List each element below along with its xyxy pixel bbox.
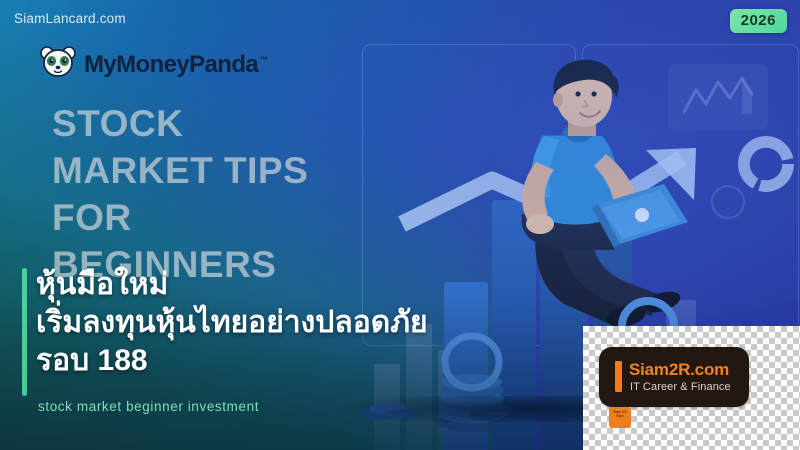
year-badge: 2026 xyxy=(730,9,787,33)
trademark-symbol: ™ xyxy=(259,55,267,65)
watermark-logo-plate: Siam2R.com IT Career & Finance Siam 2R R… xyxy=(599,347,749,407)
thai-line-1: หุ้นมือใหม่ xyxy=(36,266,506,304)
thai-line-2: เริ่มลงทุนหุ้นไทยอย่างปลอดภัย xyxy=(36,304,506,342)
thai-line-3: รอบ 188 xyxy=(36,342,506,380)
orange-bar-icon xyxy=(615,361,622,392)
site-label: SiamLancard.com xyxy=(14,11,126,26)
tagline: stock market beginner investment xyxy=(38,399,259,414)
promo-banner: % xyxy=(0,0,800,450)
watermark-badge: Siam 2R Rich xyxy=(609,407,631,428)
watermark-card: Siam2R.com IT Career & Finance Siam 2R R… xyxy=(583,326,800,450)
panda-head-icon xyxy=(40,45,76,84)
accent-bar xyxy=(22,268,27,396)
headline-thai: หุ้นมือใหม่ เริ่มลงทุนหุ้นไทยอย่างปลอดภั… xyxy=(36,266,506,380)
headline-english: STOCK MARKET TIPS FOR BEGINNERS xyxy=(52,100,352,288)
brand-logo: MyMoneyPanda™ xyxy=(40,45,268,84)
brand-name: MyMoneyPanda™ xyxy=(84,51,268,79)
watermark-title: Siam2R.com xyxy=(629,360,729,380)
watermark-subtitle: IT Career & Finance xyxy=(630,381,731,393)
